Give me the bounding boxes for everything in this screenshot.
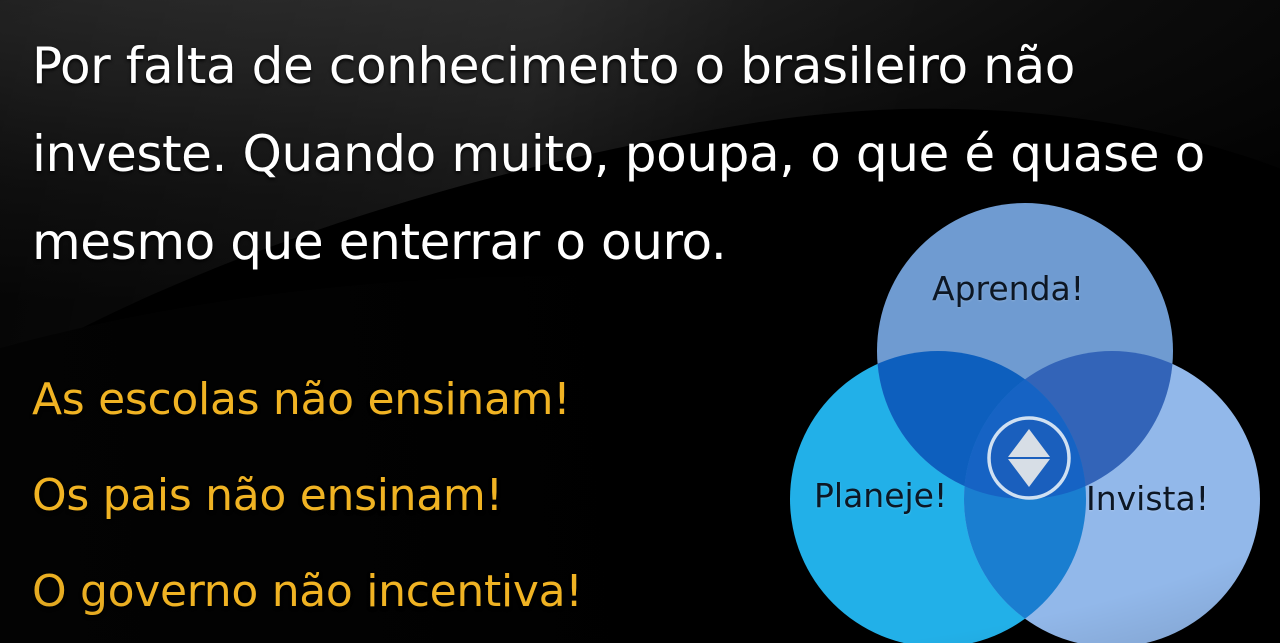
bullet-item-2: Os pais não ensinam! bbox=[32, 448, 792, 544]
bullet-item-3: O governo não incentiva! bbox=[32, 544, 792, 640]
venn-label-planeje: Planeje! bbox=[814, 476, 947, 515]
bullet-item-1: As escolas não ensinam! bbox=[32, 352, 792, 448]
venn-label-aprenda: Aprenda! bbox=[932, 269, 1084, 308]
venn-diagram: Aprenda! Planeje! Invista! bbox=[786, 196, 1264, 643]
slide-canvas: Por falta de conhecimento o brasileiro n… bbox=[0, 0, 1280, 643]
venn-label-invista: Invista! bbox=[1086, 479, 1209, 518]
bullet-list: As escolas não ensinam! Os pais não ensi… bbox=[32, 352, 792, 640]
up-down-arrows-icon[interactable] bbox=[989, 418, 1069, 498]
